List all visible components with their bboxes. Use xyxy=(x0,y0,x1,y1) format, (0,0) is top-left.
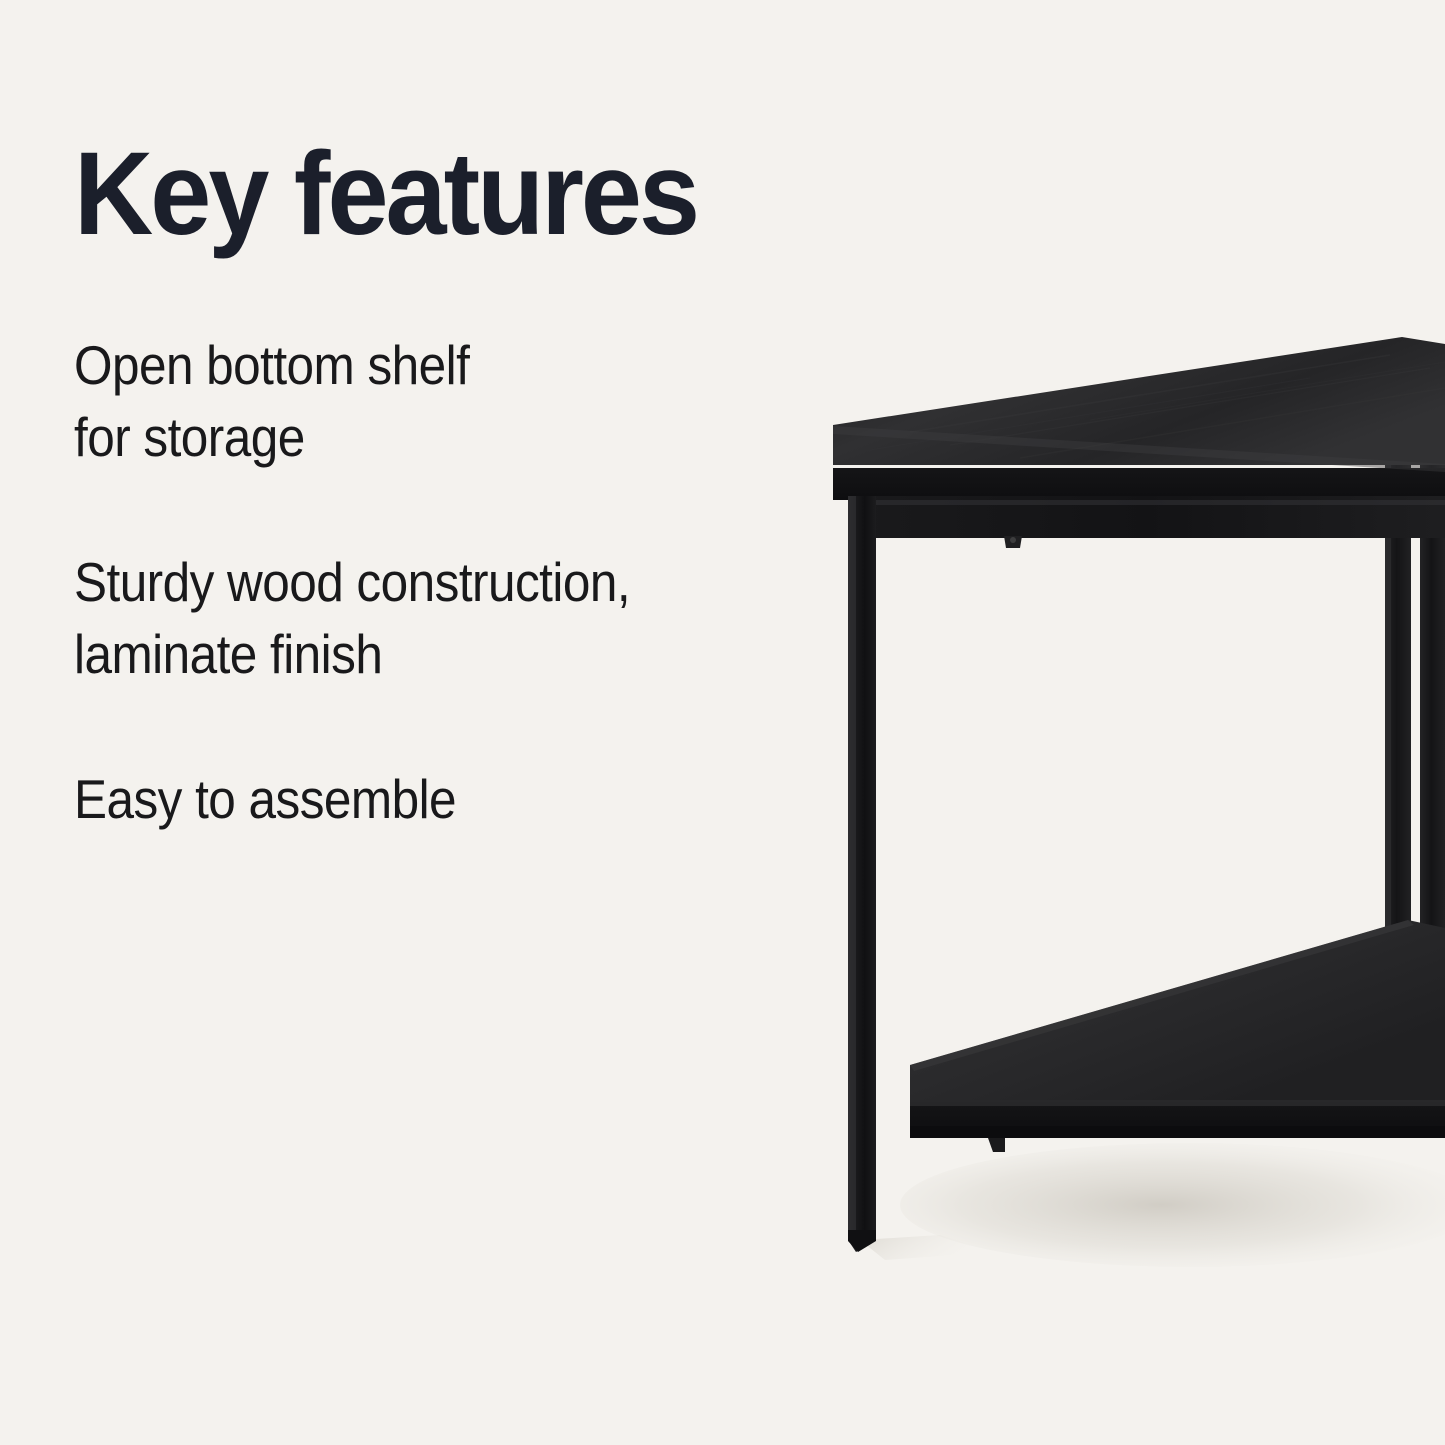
screw-icon xyxy=(1010,537,1016,543)
front-left-leg-highlight xyxy=(848,496,856,1240)
feature-line: laminate finish xyxy=(74,619,740,691)
table-apron xyxy=(848,496,1445,548)
page-title: Key features xyxy=(74,131,697,258)
feature-item-open-bottom-shelf: Open bottom shelf for storage xyxy=(74,330,740,473)
feature-item-easy-to-assemble: Easy to assemble xyxy=(74,764,740,836)
feature-item-sturdy-wood-construction: Sturdy wood construction, laminate finis… xyxy=(74,547,740,690)
text-content-column: Key features Open bottom shelf for stora… xyxy=(0,0,830,1445)
shelf-bracket-icon xyxy=(988,1138,1005,1152)
product-photo-coffee-table xyxy=(790,300,1445,1300)
coffee-table-illustration xyxy=(790,300,1445,1300)
shelf-surface xyxy=(910,920,1445,1100)
feature-line: Easy to assemble xyxy=(74,764,740,836)
key-features-panel: Key features Open bottom shelf for stora… xyxy=(0,0,1445,1445)
shelf-edge-highlight xyxy=(910,1100,1445,1106)
table-top xyxy=(833,337,1445,500)
lower-shelf xyxy=(910,920,1445,1152)
feature-line: Sturdy wood construction, xyxy=(74,547,740,619)
feature-line: Open bottom shelf xyxy=(74,330,740,402)
table-leg-front-left xyxy=(848,496,876,1252)
feature-list: Open bottom shelf for storage Sturdy woo… xyxy=(74,330,814,836)
feature-line: for storage xyxy=(74,402,740,474)
apron-highlight xyxy=(848,500,1445,505)
shelf-underside xyxy=(910,1126,1445,1138)
